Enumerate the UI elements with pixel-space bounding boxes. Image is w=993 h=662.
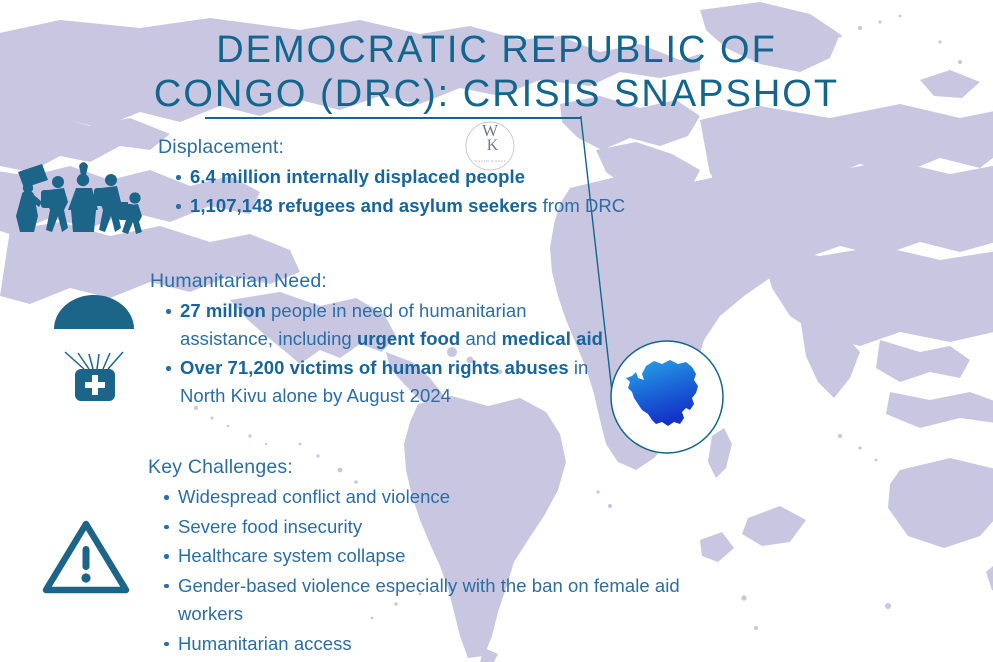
section-heading: Key Challenges: [148,456,746,479]
bullet-bold-text-3: medical aid [502,328,603,349]
bullet-plain-text: Widespread conflict and violence [178,486,450,507]
list-item: Humanitarian access [178,630,746,659]
warning-triangle-icon [42,518,130,596]
section-humanitarian-need: Humanitarian Need: 27 million people in … [148,270,618,411]
logo-letters: W K [459,123,521,153]
bullet-bold-text-2: urgent food [357,328,460,349]
bullet-plain-text: Gender-based violence especially with th… [178,575,680,625]
parachute-medical-aid-icon [48,295,140,403]
challenges-bullet-list: Widespread conflict and violence Severe … [146,483,746,658]
wk-logo: W K WALID KASSI [459,115,521,177]
section-key-challenges: Key Challenges: Widespread conflict and … [146,456,746,659]
displacement-bullet-list: 6.4 million internally displaced people … [158,163,658,220]
list-item: 1,107,148 refugees and asylum seekers fr… [190,192,658,220]
need-bullet-list: 27 million people in need of humanitaria… [148,297,618,410]
bullet-plain-text: Severe food insecurity [178,516,362,537]
bullet-plain-text: Humanitarian access [178,633,352,654]
logo-subtext: WALID KASSI [459,159,521,163]
bullet-bold-text: 1,107,148 refugees and asylum seekers [190,195,537,216]
bullet-bold-text: Over 71,200 victims of human rights abus… [180,357,569,378]
section-heading: Humanitarian Need: [150,270,618,293]
bullet-plain-text: from DRC [537,195,625,216]
refugees-walking-icon [8,158,148,236]
list-item: Healthcare system collapse [178,542,746,571]
poster-canvas: DEMOCRATIC REPUBLIC OF CONGO (DRC): CRIS… [0,0,993,662]
bullet-plain-text-2: and [460,328,501,349]
list-item: Gender-based violence especially with th… [178,572,746,629]
logo-letter-k: K [464,138,521,153]
content-area: Displacement: 6.4 million internally dis… [0,0,993,662]
drc-inset-map [608,338,726,456]
list-item: Widespread conflict and violence [178,483,746,512]
list-item: 27 million people in need of humanitaria… [180,297,618,353]
list-item: Severe food insecurity [178,513,746,542]
list-item: 6.4 million internally displaced people [190,163,658,191]
section-displacement: Displacement: 6.4 million internally dis… [158,136,658,221]
list-item: Over 71,200 victims of human rights abus… [180,354,618,410]
bullet-bold-text: 27 million [180,300,266,321]
section-heading: Displacement: [158,136,658,159]
bullet-plain-text: Healthcare system collapse [178,545,406,566]
